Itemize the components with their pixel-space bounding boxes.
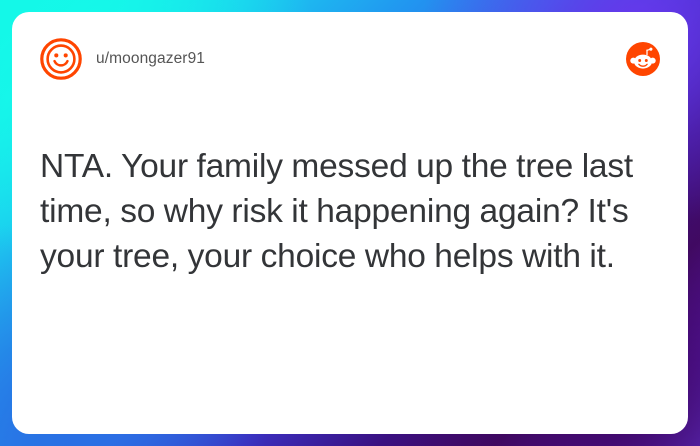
username-label: u/moongazer91: [96, 50, 205, 68]
comment-card: u/moongazer91: [12, 12, 688, 434]
comment-text: NTA. Your family messed up the tree last…: [40, 144, 650, 279]
reddit-snoo-icon[interactable]: [626, 42, 660, 76]
comment-header: u/moongazer91: [40, 36, 660, 82]
gradient-backdrop: u/moongazer91: [0, 0, 700, 446]
smiley-face-avatar-icon[interactable]: [40, 38, 82, 80]
